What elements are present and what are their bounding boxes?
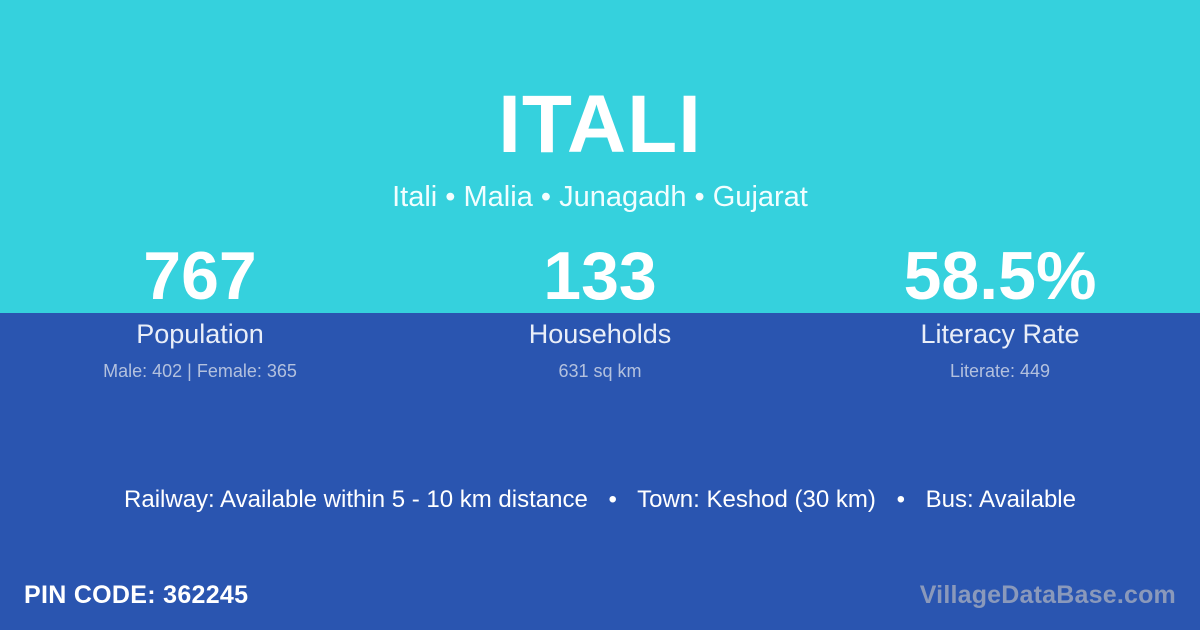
stats-row: 767 Population Male: 402 | Female: 365 1… — [0, 240, 1200, 382]
brand-watermark: VillageDataBase.com — [920, 580, 1176, 610]
footer: PIN CODE: 362245 VillageDataBase.com — [0, 560, 1200, 630]
stat-households: 133 Households 631 sq km — [400, 240, 800, 382]
stat-value-households: 133 — [400, 240, 800, 312]
stat-value-literacy-rate: 58.5% — [800, 240, 1200, 312]
amenities-info-line: Railway: Available within 5 - 10 km dist… — [0, 485, 1200, 515]
stat-label-households: Households — [400, 319, 800, 349]
stat-population: 767 Population Male: 402 | Female: 365 — [0, 240, 400, 382]
stat-sub-literacy-rate: Literate: 449 — [800, 360, 1200, 382]
stat-label-population: Population — [0, 319, 400, 349]
village-info-card: ITALI Itali • Malia • Junagadh • Gujarat… — [0, 0, 1200, 630]
stat-sub-population: Male: 402 | Female: 365 — [0, 360, 400, 382]
stat-label-literacy-rate: Literacy Rate — [800, 319, 1200, 349]
info-railway: Railway: Available within 5 - 10 km dist… — [124, 486, 588, 513]
header: ITALI Itali • Malia • Junagadh • Gujarat — [0, 0, 1200, 214]
bullet-separator-icon: • — [594, 485, 630, 515]
pin-code: PIN CODE: 362245 — [24, 580, 248, 610]
breadcrumb: Itali • Malia • Junagadh • Gujarat — [0, 168, 1200, 214]
page-title: ITALI — [0, 0, 1200, 168]
stat-value-population: 767 — [0, 240, 400, 312]
bullet-separator-icon: • — [883, 485, 919, 515]
stat-literacy-rate: 58.5% Literacy Rate Literate: 449 — [800, 240, 1200, 382]
info-bus: Bus: Available — [926, 486, 1076, 513]
stat-sub-households: 631 sq km — [400, 360, 800, 382]
info-town: Town: Keshod (30 km) — [637, 486, 876, 513]
